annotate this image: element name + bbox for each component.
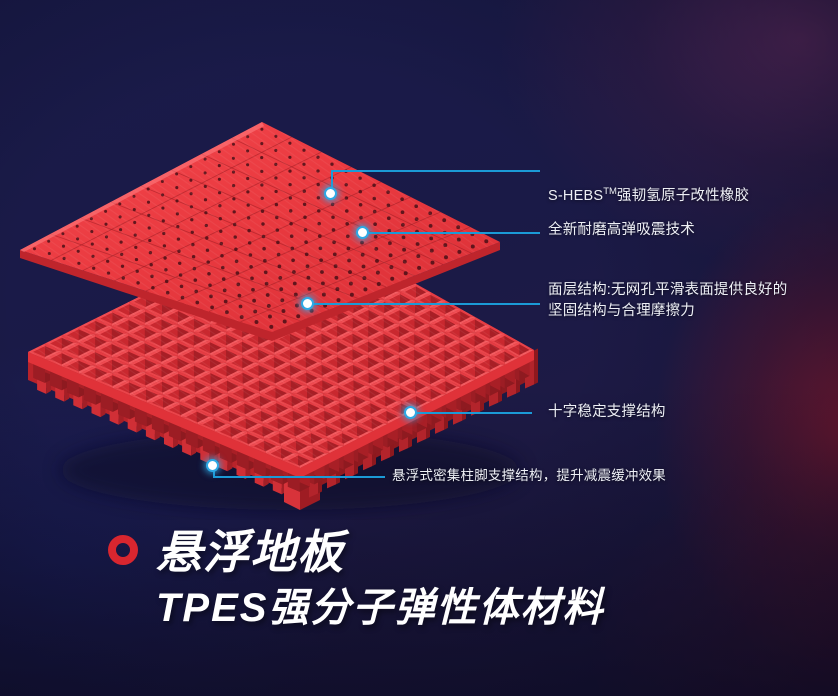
callout-5-anchor-dot — [206, 459, 219, 472]
product-illustration — [0, 0, 560, 520]
callout-4-anchor-dot — [404, 406, 417, 419]
callout-label-1: S-HEBSTM强韧氢原子改性橡胶 — [548, 160, 749, 207]
ring-icon — [108, 535, 138, 565]
support-foot-right-side — [534, 349, 538, 385]
callout-1-trademark: TM — [603, 186, 617, 197]
leader-4-horizontal — [416, 412, 532, 414]
headline-line-2: TPES强分子弹性体材料 — [156, 584, 604, 632]
callout-label-5: 悬浮式密集柱脚支撑结构，提升减震缓冲效果 — [392, 465, 666, 486]
poster-canvas: S-HEBSTM强韧氢原子改性橡胶 全新耐磨高弹吸震技术 面层结构:无网孔平滑表… — [0, 0, 838, 696]
callout-label-4: 十字稳定支撑结构 — [548, 402, 666, 423]
callout-1-anchor-dot — [324, 187, 337, 200]
callout-1-text-post: 强韧氢原子改性橡胶 — [617, 188, 749, 204]
leader-2-horizontal — [368, 232, 540, 234]
callout-2-anchor-dot — [356, 226, 369, 239]
leader-5-horizontal — [213, 476, 385, 478]
callout-3-anchor-dot — [301, 297, 314, 310]
leader-1-horizontal — [331, 170, 540, 172]
callout-1-text-pre: S-HEBS — [548, 188, 603, 204]
headline-line-1: 悬浮地板 — [156, 526, 344, 578]
callout-label-3: 面层结构:无网孔平滑表面提供良好的 坚固结构与合理摩擦力 — [548, 280, 787, 322]
leader-3-horizontal — [313, 303, 540, 305]
callout-label-2: 全新耐磨高弹吸震技术 — [548, 220, 695, 241]
